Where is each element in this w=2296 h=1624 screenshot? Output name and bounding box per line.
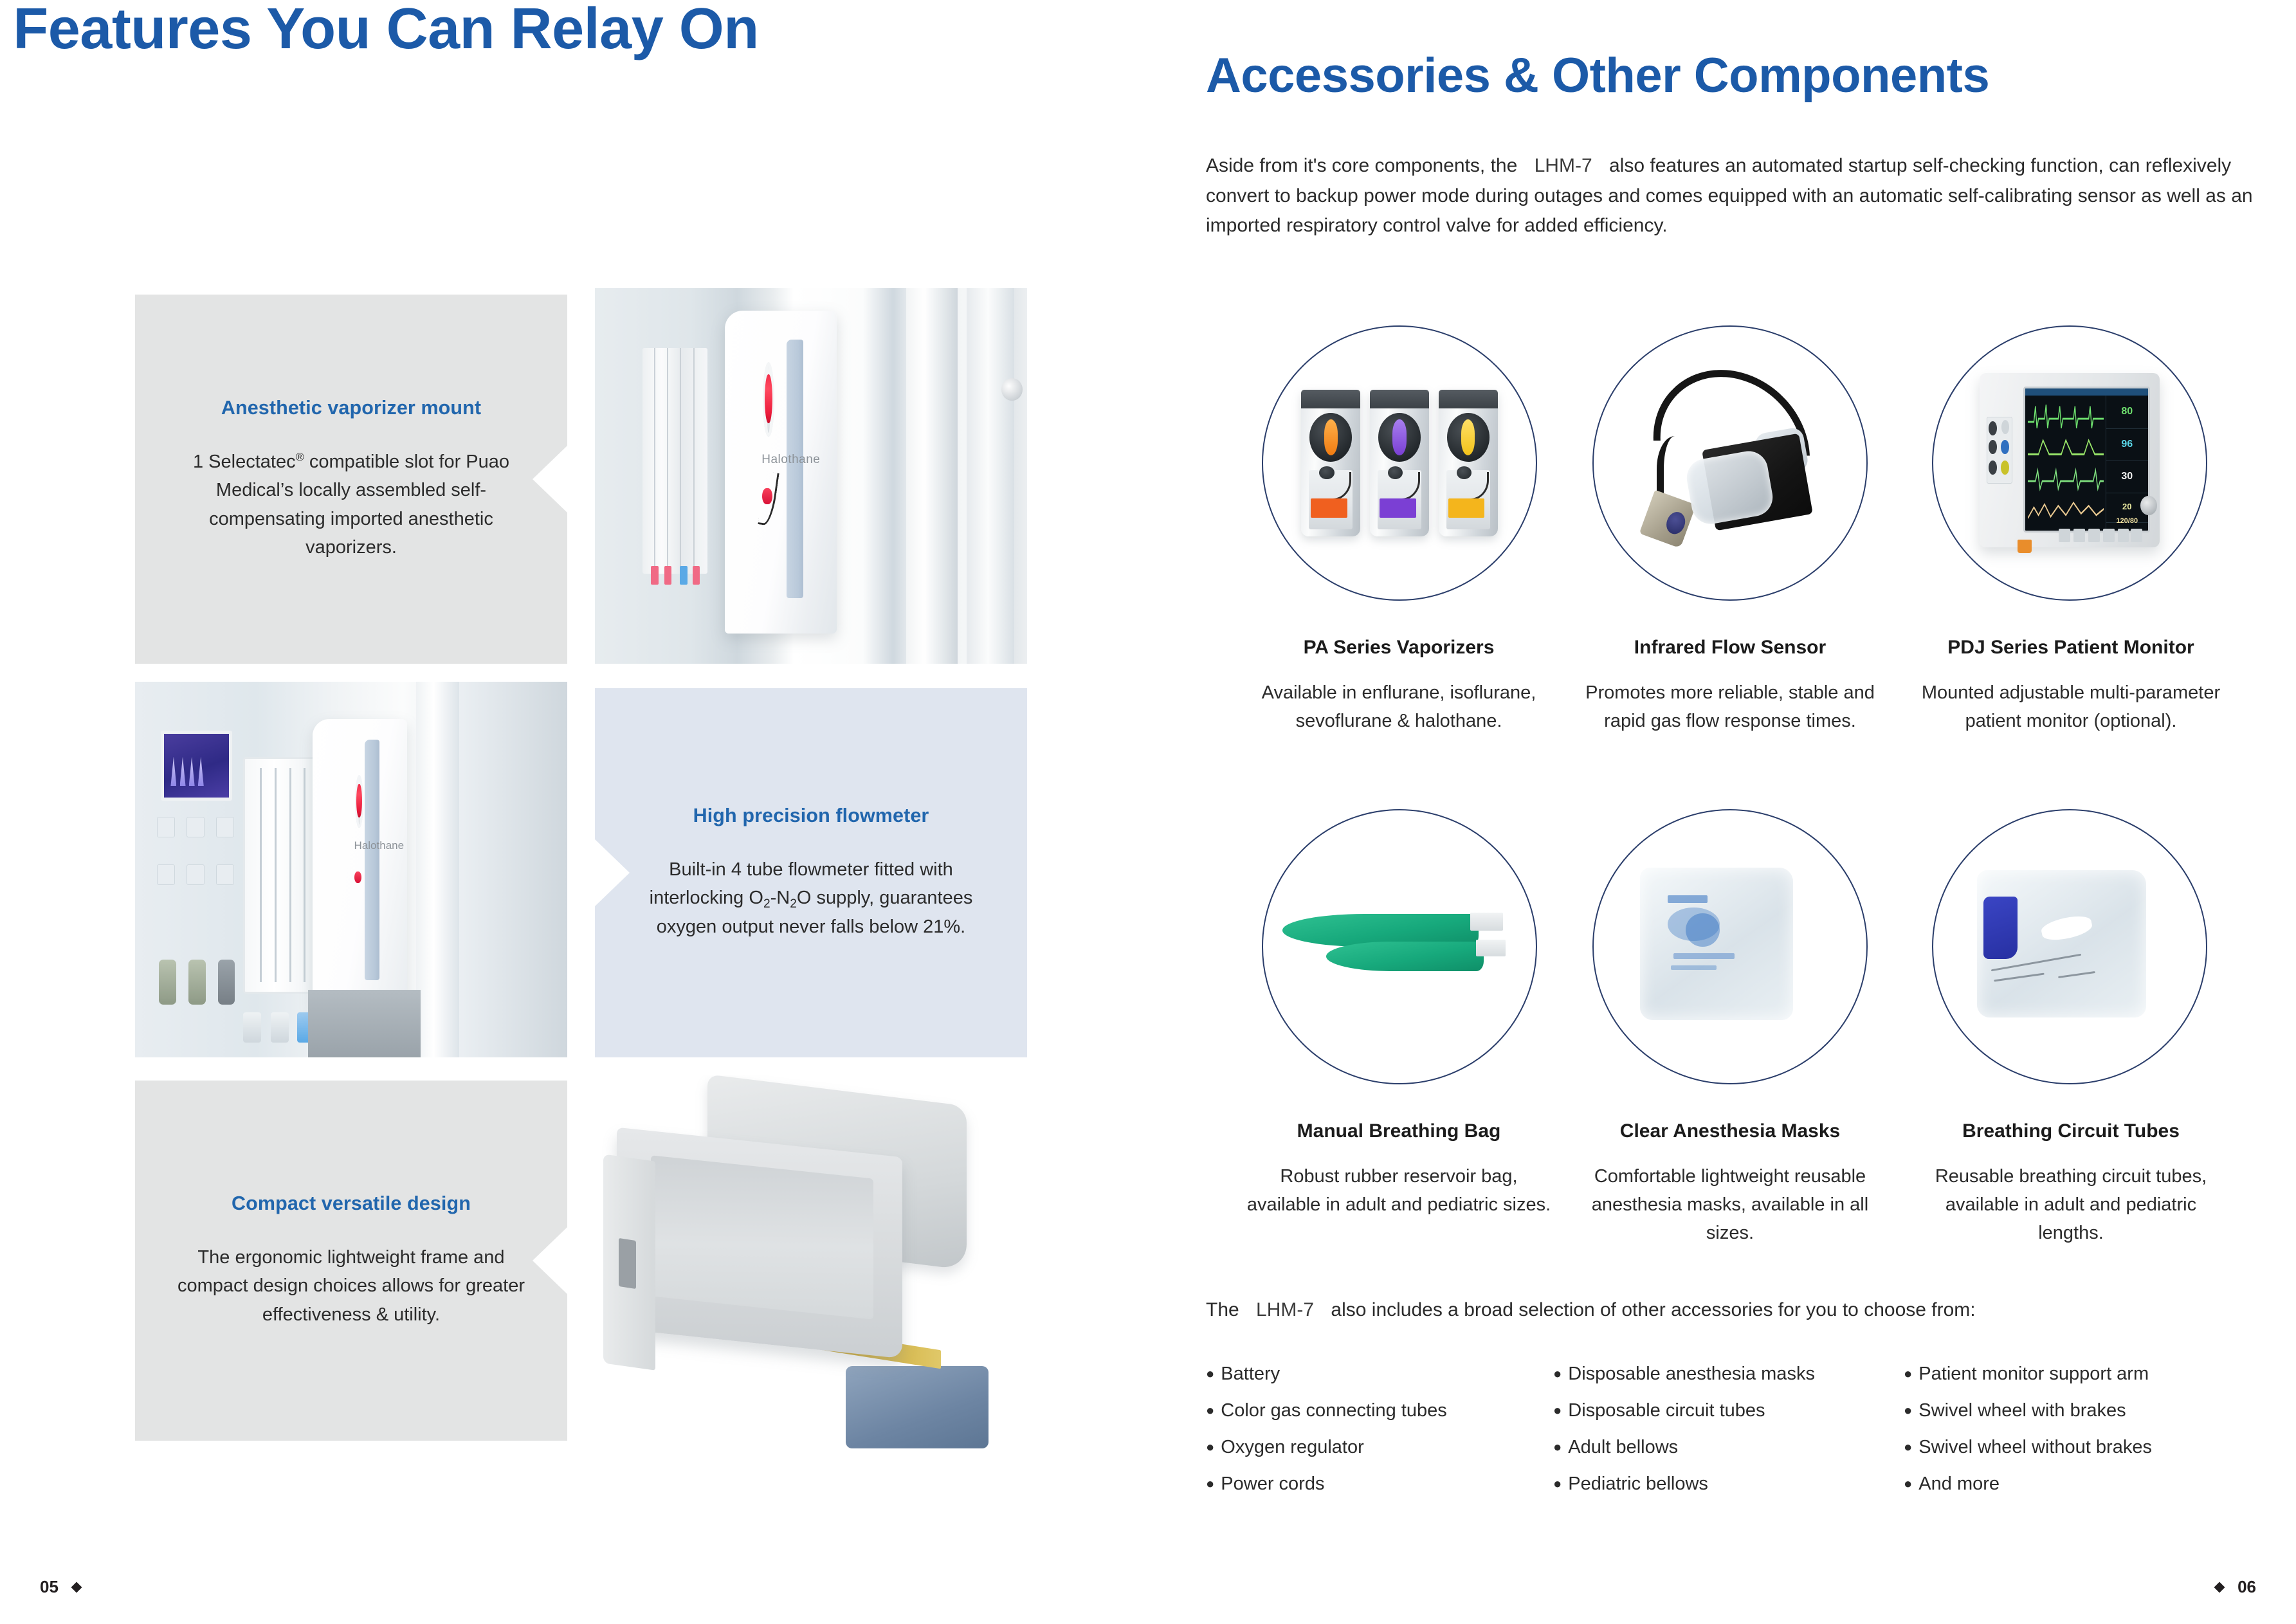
vaporizer-body: Halothane — [725, 311, 837, 634]
product-title-pdj-series-patient-monitor: PDJ Series Patient Monitor — [1900, 637, 2241, 659]
list-item: ●Adult bellows — [1553, 1437, 1904, 1458]
bullet-icon: ● — [1553, 1439, 1562, 1455]
bullet-icon: ● — [1206, 1365, 1214, 1382]
model-name: LHM-7 — [1244, 1299, 1326, 1321]
product-title-clear-anesthesia-masks: Clear Anesthesia Masks — [1572, 1120, 1888, 1142]
vital-resp: 30 — [2106, 461, 2148, 493]
feature-body: 1 Selectatec® compatible slot for Puao M… — [165, 448, 538, 561]
packaged-circuit-tubes-icon — [1977, 870, 2146, 1017]
product-title-manual-breathing-bag: Manual Breathing Bag — [1241, 1120, 1556, 1142]
subscript-2: 2 — [790, 897, 797, 911]
vaporizer-dial-icon — [763, 362, 774, 437]
accessory-column: ●Disposable anesthesia masks ●Disposable… — [1553, 1364, 1904, 1495]
bullet-icon: ● — [1553, 1365, 1562, 1382]
model-name: LHM-7 — [1523, 151, 1604, 181]
vaporizer-body: Halothane — [313, 719, 408, 1012]
packaged-masks-icon — [1640, 868, 1792, 1020]
monitor-keys-icon — [2059, 529, 2140, 542]
bullet-icon: ● — [1904, 1402, 1912, 1418]
vaporizer-agent-label: Halothane — [761, 453, 820, 467]
monitor-knob-icon — [2140, 496, 2156, 515]
product-image-pdj-series-patient-monitor: 80 96 30 20 120/80 — [1932, 325, 2207, 601]
bullet-icon: ● — [1904, 1475, 1912, 1492]
accessory-list: ●Battery ●Color gas connecting tubes ●Ox… — [1206, 1364, 2261, 1495]
product-image-breathing-circuit-tubes — [1932, 809, 2207, 1084]
vital-heart-rate: 80 — [2106, 396, 2148, 428]
folio-number: 06 — [2237, 1577, 2256, 1597]
feature-card-high-precision-flowmeter: High precision flowmeter Built-in 4 tube… — [595, 688, 1027, 1057]
list-item: ●Power cords — [1206, 1473, 1553, 1495]
bullet-icon: ● — [1206, 1439, 1214, 1455]
product-title-pa-series-vaporizers: PA Series Vaporizers — [1241, 637, 1556, 659]
left-page-title: Features You Can Relay On — [0, 0, 772, 58]
list-item: ●Pediatric bellows — [1553, 1473, 1904, 1495]
bullet-icon: ● — [1553, 1475, 1562, 1492]
accessory-column: ●Battery ●Color gas connecting tubes ●Ox… — [1206, 1364, 1553, 1495]
list-item: ●Battery — [1206, 1364, 1553, 1385]
product-desc-infrared-flow-sensor: Promotes more reliable, stable and rapid… — [1572, 679, 1888, 735]
feature-body: Built-in 4 tube flowmeter fitted with in… — [624, 855, 998, 940]
product-desc-clear-anesthesia-masks: Comfortable lightweight reusable anesthe… — [1572, 1162, 1888, 1247]
feature-title: High precision flowmeter — [693, 805, 929, 827]
photo-flowmeter-panel: Halothane — [135, 682, 567, 1057]
feature-body-part: 1 Selectatec — [193, 452, 296, 472]
product-image-manual-breathing-bag — [1262, 809, 1537, 1084]
list-item: ●Swivel wheel with brakes — [1904, 1400, 2261, 1421]
product-desc-breathing-circuit-tubes: Reusable breathing circuit tubes, availa… — [1913, 1162, 2228, 1247]
list-item: ●Patient monitor support arm — [1904, 1364, 2261, 1385]
callout-notch-icon — [533, 446, 567, 513]
folio-right: 06 — [2216, 1577, 2256, 1597]
bullet-icon: ● — [1553, 1402, 1562, 1418]
left-page: Features You Can Relay On Anesthetic vap… — [0, 0, 1148, 1624]
ventilator-display-icon — [161, 731, 232, 801]
list-item: ●Disposable circuit tubes — [1553, 1400, 1904, 1421]
vital-nibp: 120/80 — [2106, 511, 2148, 530]
vaporizer-dial-icon — [355, 775, 363, 828]
feature-title: Compact versatile design — [232, 1192, 471, 1215]
product-desc-manual-breathing-bag: Robust rubber reservoir bag, available i… — [1241, 1162, 1556, 1219]
bullet-icon: ● — [1206, 1402, 1214, 1418]
registered-mark: ® — [296, 451, 304, 464]
list-item: ●Color gas connecting tubes — [1206, 1400, 1553, 1421]
intro-text-before: Aside from it's core components, the — [1206, 155, 1517, 176]
intro-paragraph: Aside from it's core components, the LHM… — [1206, 151, 2261, 241]
drawer-body — [617, 1127, 902, 1359]
product-image-pa-series-vaporizers — [1262, 325, 1537, 601]
right-page-title: Accessories & Other Components — [1206, 51, 1989, 100]
photo-storage-drawer — [595, 1075, 1027, 1448]
closing-text-after: also includes a broad selection of other… — [1331, 1299, 1975, 1320]
product-title-breathing-circuit-tubes: Breathing Circuit Tubes — [1913, 1120, 2228, 1142]
monitor-screen: 80 96 30 20 120/80 — [2023, 387, 2150, 532]
photo-vaporizer-mount: Halothane — [595, 288, 1027, 664]
accessory-column: ●Patient monitor support arm ●Swivel whe… — [1904, 1364, 2261, 1495]
closing-paragraph: The LHM-7 also includes a broad selectio… — [1206, 1299, 1976, 1321]
callout-notch-icon — [533, 1227, 567, 1294]
product-desc-pa-series-vaporizers: Available in enflurane, isoflurane, sevo… — [1241, 679, 1556, 735]
feature-title: Anesthetic vaporizer mount — [221, 397, 481, 419]
bullet-icon: ● — [1904, 1439, 1912, 1455]
vaporizer-trio-icon — [1301, 390, 1497, 537]
feature-card-vaporizer-mount: Anesthetic vaporizer mount 1 Selectatec®… — [135, 295, 567, 664]
feature-body: The ergonomic lightweight frame and comp… — [165, 1243, 538, 1328]
product-title-infrared-flow-sensor: Infrared Flow Sensor — [1572, 637, 1888, 659]
list-item: ●Swivel wheel without brakes — [1904, 1437, 2261, 1458]
vaporizer-agent-label: Halothane — [354, 839, 405, 852]
vital-spo2: 96 — [2106, 428, 2148, 461]
diamond-icon — [2214, 1582, 2225, 1592]
flowmeter-tube-bank-icon — [243, 757, 320, 994]
list-item: ●Disposable anesthesia masks — [1553, 1364, 1904, 1385]
drawer-handle-icon — [619, 1238, 636, 1290]
folio-number: 05 — [40, 1577, 59, 1597]
diamond-icon — [71, 1582, 82, 1592]
product-image-infrared-flow-sensor — [1592, 325, 1868, 601]
subscript-2: 2 — [763, 897, 770, 911]
feature-body-part: -N — [770, 888, 790, 908]
bullet-icon: ● — [1206, 1475, 1214, 1492]
monitor-ports-icon — [1987, 417, 2012, 484]
list-item: ●And more — [1904, 1473, 2261, 1495]
feature-card-compact-versatile-design: Compact versatile design The ergonomic l… — [135, 1081, 567, 1441]
closing-text-before: The — [1206, 1299, 1239, 1320]
product-image-clear-anesthesia-masks — [1592, 809, 1868, 1084]
breathing-bag-small-icon — [1326, 942, 1484, 972]
folio-left: 05 — [40, 1577, 80, 1597]
list-item: ●Oxygen regulator — [1206, 1437, 1553, 1458]
product-desc-pdj-series-patient-monitor: Mounted adjustable multi-parameter patie… — [1913, 679, 2228, 735]
bullet-icon: ● — [1904, 1365, 1912, 1382]
flowmeter-tubes-icon — [642, 348, 707, 573]
